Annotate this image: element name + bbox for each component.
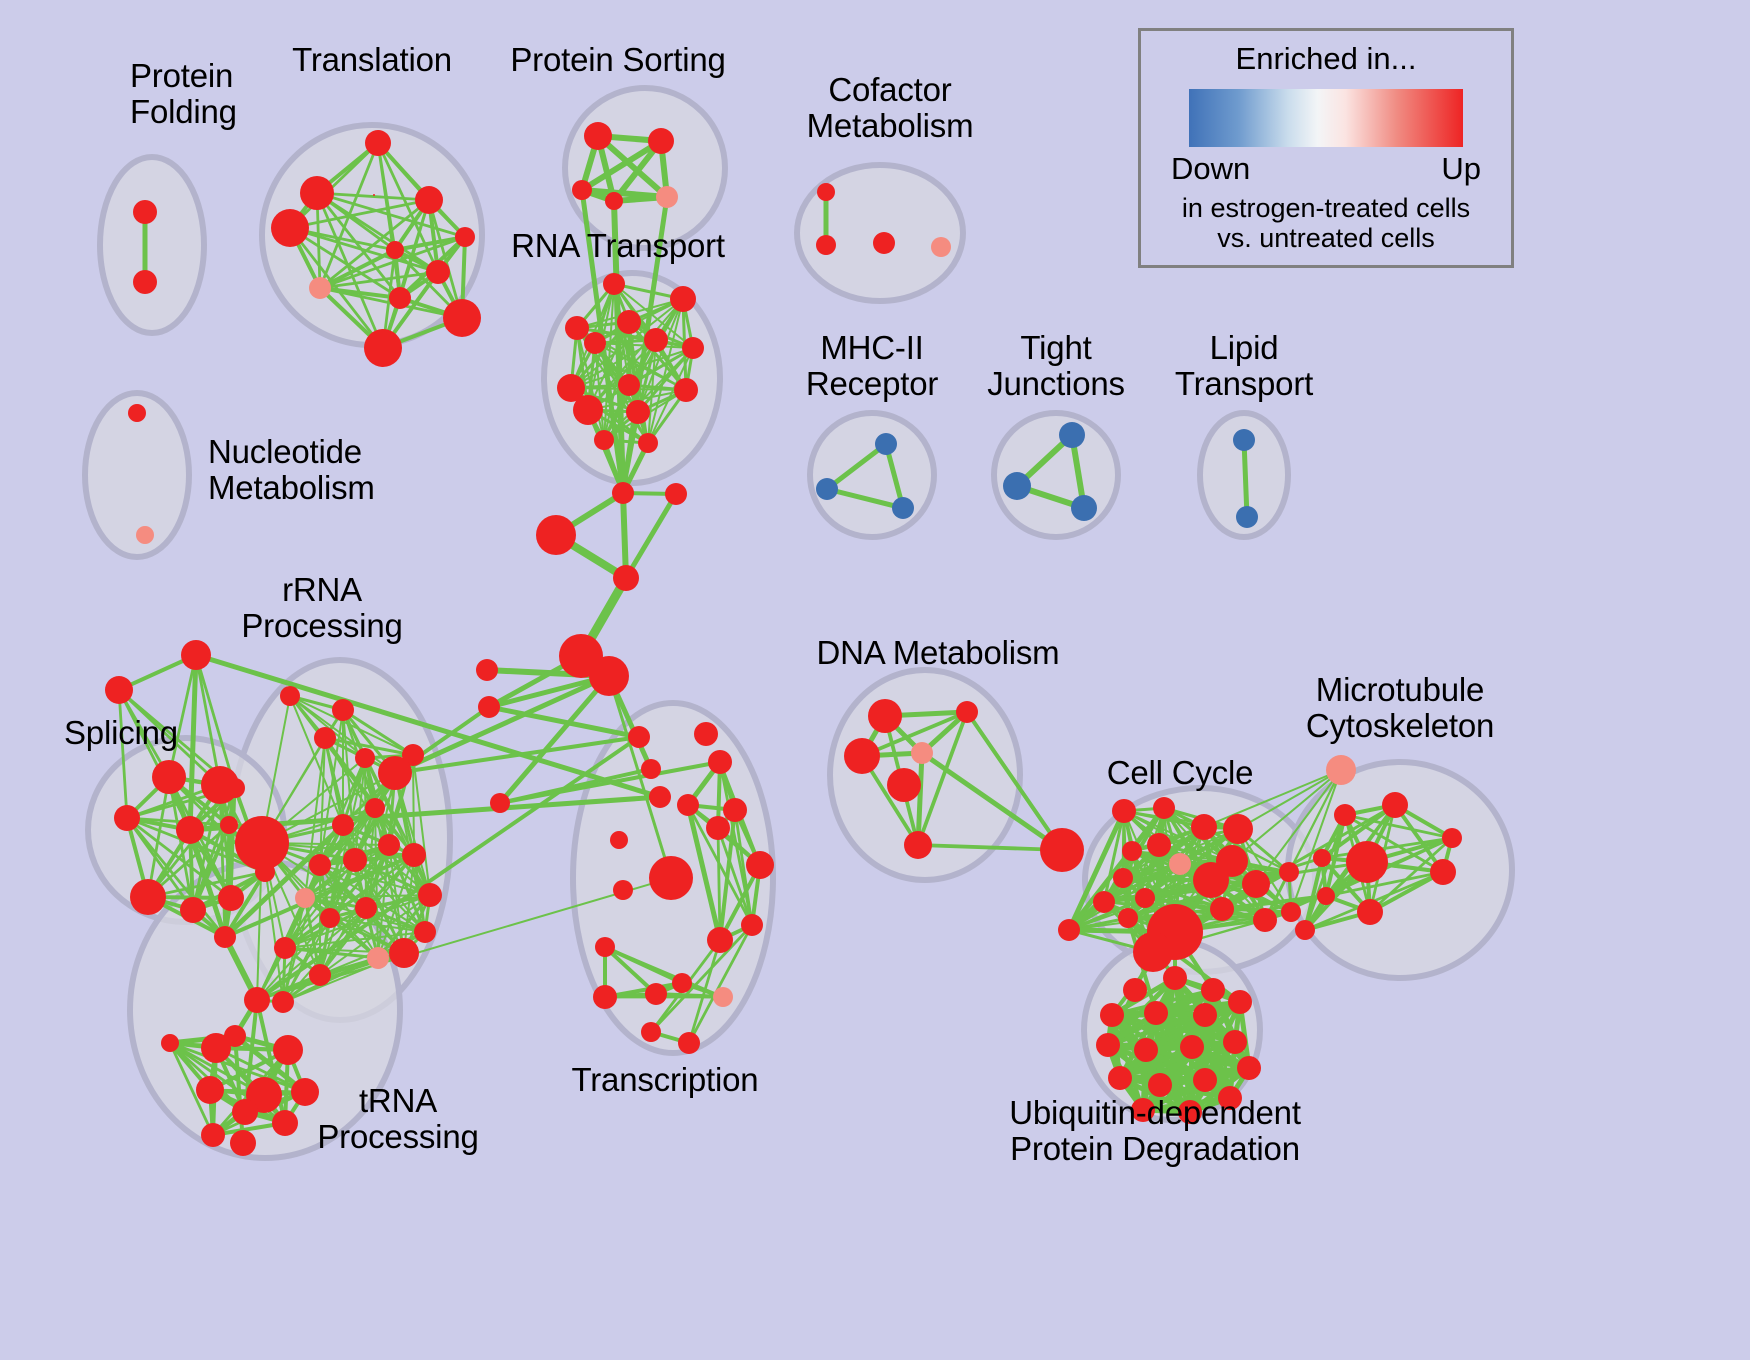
network-node[interactable] (1357, 899, 1383, 925)
network-node[interactable] (1133, 932, 1173, 972)
cluster-hull[interactable] (810, 413, 934, 537)
cluster-label: Tight Junctions (987, 330, 1125, 401)
network-node[interactable] (364, 329, 402, 367)
network-node[interactable] (1237, 1056, 1261, 1080)
network-node[interactable] (152, 760, 186, 794)
network-node[interactable] (641, 759, 661, 779)
network-node[interactable] (1059, 422, 1085, 448)
cluster-label: Microtubule Cytoskeleton (1306, 672, 1494, 743)
network-node[interactable] (332, 814, 354, 836)
network-node[interactable] (1135, 888, 1155, 908)
network-node[interactable] (1193, 1068, 1217, 1092)
network-node[interactable] (589, 656, 629, 696)
network-edge (626, 494, 676, 578)
network-node[interactable] (490, 793, 510, 813)
legend-endpoint-labels: Down Up (1141, 147, 1511, 187)
network-node[interactable] (816, 478, 838, 500)
network-node[interactable] (378, 756, 412, 790)
legend-panel: Enriched in... Down Up in estrogen-treat… (1138, 28, 1514, 268)
network-node[interactable] (1313, 849, 1331, 867)
network-node[interactable] (1223, 1030, 1247, 1054)
network-node[interactable] (875, 433, 897, 455)
network-node[interactable] (817, 183, 835, 201)
network-node[interactable] (244, 987, 270, 1013)
network-node[interactable] (355, 897, 377, 919)
network-node[interactable] (613, 880, 633, 900)
cluster-label: Cell Cycle (1107, 755, 1254, 791)
network-node[interactable] (868, 699, 902, 733)
legend-color-gradient-bar (1189, 89, 1463, 147)
network-node[interactable] (816, 235, 836, 255)
network-node[interactable] (723, 798, 747, 822)
network-node[interactable] (300, 176, 334, 210)
network-node[interactable] (105, 676, 133, 704)
cluster-label: Protein Folding (130, 58, 237, 129)
network-node[interactable] (133, 200, 157, 224)
network-node[interactable] (741, 914, 763, 936)
network-node[interactable] (214, 926, 236, 948)
network-node[interactable] (274, 937, 296, 959)
network-node[interactable] (931, 237, 951, 257)
network-node[interactable] (161, 1034, 179, 1052)
network-node[interactable] (1193, 862, 1229, 898)
network-node[interactable] (365, 130, 391, 156)
network-node[interactable] (645, 983, 667, 1005)
network-node[interactable] (1093, 891, 1115, 913)
network-node[interactable] (844, 738, 880, 774)
network-node[interactable] (678, 1032, 700, 1054)
network-node[interactable] (610, 831, 628, 849)
network-node[interactable] (672, 973, 692, 993)
network-figure: Protein FoldingTranslationProtein Sortin… (0, 0, 1750, 1360)
network-node[interactable] (201, 766, 239, 804)
network-node[interactable] (418, 883, 442, 907)
network-node[interactable] (1430, 859, 1456, 885)
network-node[interactable] (367, 947, 389, 969)
network-node[interactable] (373, 194, 375, 196)
network-node[interactable] (443, 299, 481, 337)
network-node[interactable] (670, 286, 696, 312)
network-node[interactable] (911, 742, 933, 764)
network-node[interactable] (593, 985, 617, 1009)
network-node[interactable] (220, 816, 238, 834)
network-node[interactable] (114, 805, 140, 831)
legend-low-label: Down (1171, 151, 1250, 187)
cluster-label: tRNA Processing (317, 1083, 478, 1154)
network-node[interactable] (180, 897, 206, 923)
network-node[interactable] (343, 848, 367, 872)
legend-title: Enriched in... (1141, 41, 1511, 77)
network-node[interactable] (1112, 799, 1136, 823)
network-node[interactable] (638, 433, 658, 453)
network-node[interactable] (682, 337, 704, 359)
network-node[interactable] (1003, 472, 1031, 500)
network-node[interactable] (1279, 862, 1299, 882)
network-node[interactable] (1191, 814, 1217, 840)
network-node[interactable] (176, 816, 204, 844)
network-node[interactable] (389, 287, 411, 309)
network-node[interactable] (677, 794, 699, 816)
network-node[interactable] (291, 1078, 319, 1106)
network-node[interactable] (1169, 853, 1191, 875)
network-node[interactable] (746, 851, 774, 879)
network-node[interactable] (1144, 1001, 1168, 1025)
network-node[interactable] (892, 497, 914, 519)
network-node[interactable] (612, 482, 634, 504)
network-node[interactable] (694, 722, 718, 746)
network-node[interactable] (536, 515, 576, 555)
network-node[interactable] (232, 1099, 258, 1125)
network-node[interactable] (201, 1123, 225, 1147)
network-node[interactable] (1153, 797, 1175, 819)
network-node[interactable] (904, 831, 932, 859)
network-node[interactable] (332, 699, 354, 721)
legend-caption-line-2: vs. untreated cells (1141, 223, 1511, 253)
cluster-label: Translation (292, 42, 452, 78)
network-node[interactable] (665, 483, 687, 505)
network-node[interactable] (309, 854, 331, 876)
network-node[interactable] (1233, 429, 1255, 451)
legend-caption-line-1: in estrogen-treated cells (1141, 193, 1511, 223)
network-node[interactable] (235, 816, 289, 870)
network-node[interactable] (218, 885, 244, 911)
network-node[interactable] (1242, 870, 1270, 898)
legend-high-label: Up (1441, 151, 1481, 187)
network-node[interactable] (365, 798, 385, 818)
network-node[interactable] (1113, 868, 1133, 888)
network-node[interactable] (1134, 1038, 1158, 1062)
network-node[interactable] (713, 987, 733, 1007)
network-node[interactable] (455, 227, 475, 247)
network-node[interactable] (1223, 814, 1253, 844)
network-node[interactable] (273, 1035, 303, 1065)
network-node[interactable] (644, 328, 668, 352)
cluster-label: RNA Transport (511, 228, 725, 264)
network-node[interactable] (649, 856, 693, 900)
network-node[interactable] (415, 186, 443, 214)
network-node[interactable] (626, 400, 650, 424)
network-node[interactable] (1108, 1066, 1132, 1090)
network-node[interactable] (1228, 990, 1252, 1014)
network-node[interactable] (1163, 966, 1187, 990)
cluster-label: Ubiquitin-dependent Protein Degradation (1009, 1095, 1301, 1166)
network-node[interactable] (1040, 828, 1084, 872)
network-node[interactable] (706, 816, 730, 840)
network-node[interactable] (478, 696, 500, 718)
network-node[interactable] (641, 1022, 661, 1042)
cluster-label: DNA Metabolism (817, 635, 1060, 671)
network-node[interactable] (386, 241, 404, 259)
network-node[interactable] (426, 260, 450, 284)
network-node[interactable] (628, 726, 650, 748)
network-node[interactable] (378, 834, 400, 856)
network-node[interactable] (708, 750, 732, 774)
network-node[interactable] (1382, 792, 1408, 818)
network-node[interactable] (1100, 1003, 1124, 1027)
network-node[interactable] (873, 232, 895, 254)
network-node[interactable] (402, 843, 426, 867)
network-node[interactable] (1123, 978, 1147, 1002)
network-node[interactable] (617, 310, 641, 334)
cluster-label: Splicing (64, 715, 178, 751)
network-node[interactable] (1180, 1035, 1204, 1059)
cluster-label: Nucleotide Metabolism (208, 434, 375, 505)
cluster-label: rRNA Processing (241, 572, 402, 643)
network-node[interactable] (572, 180, 592, 200)
cluster-label: Lipid Transport (1175, 330, 1313, 401)
network-node[interactable] (309, 964, 331, 986)
network-node[interactable] (1253, 908, 1277, 932)
network-node[interactable] (1193, 1003, 1217, 1027)
network-node[interactable] (1236, 506, 1258, 528)
network-node[interactable] (707, 927, 733, 953)
network-node[interactable] (355, 748, 375, 768)
cluster-label: Protein Sorting (510, 42, 725, 78)
network-node[interactable] (181, 640, 211, 670)
network-node[interactable] (1201, 978, 1225, 1002)
network-node[interactable] (1334, 804, 1356, 826)
network-node[interactable] (649, 786, 671, 808)
network-node[interactable] (674, 378, 698, 402)
network-node[interactable] (595, 937, 615, 957)
network-node[interactable] (1326, 755, 1356, 785)
network-node[interactable] (295, 888, 315, 908)
cluster-hull[interactable] (100, 157, 204, 333)
network-node[interactable] (314, 727, 336, 749)
cluster-label: MHC-II Receptor (806, 330, 938, 401)
network-node[interactable] (196, 1076, 224, 1104)
cluster-label: Transcription (572, 1062, 759, 1098)
network-node[interactable] (272, 1110, 298, 1136)
network-node[interactable] (1346, 841, 1388, 883)
network-node[interactable] (476, 659, 498, 681)
network-node[interactable] (1071, 495, 1097, 521)
network-node[interactable] (648, 128, 674, 154)
network-node[interactable] (1147, 833, 1171, 857)
network-node[interactable] (565, 316, 589, 340)
network-node[interactable] (1317, 887, 1335, 905)
network-node[interactable] (573, 395, 603, 425)
network-node[interactable] (1442, 828, 1462, 848)
network-node[interactable] (1118, 908, 1138, 928)
network-node[interactable] (1295, 920, 1315, 940)
cluster-label: Cofactor Metabolism (807, 72, 974, 143)
network-node[interactable] (603, 273, 625, 295)
network-node[interactable] (128, 404, 146, 422)
network-node[interactable] (1281, 902, 1301, 922)
network-node[interactable] (271, 209, 309, 247)
network-node[interactable] (1210, 897, 1234, 921)
network-node[interactable] (389, 938, 419, 968)
network-node[interactable] (280, 686, 300, 706)
network-node[interactable] (414, 921, 436, 943)
network-node[interactable] (605, 192, 623, 210)
network-node[interactable] (594, 430, 614, 450)
network-node[interactable] (1058, 919, 1080, 941)
network-node[interactable] (584, 332, 606, 354)
network-node[interactable] (887, 768, 921, 802)
network-node[interactable] (230, 1130, 256, 1156)
network-node[interactable] (136, 526, 154, 544)
network-edge (1244, 440, 1247, 517)
network-node[interactable] (272, 991, 294, 1013)
network-node[interactable] (320, 908, 340, 928)
network-node[interactable] (201, 1033, 231, 1063)
network-node[interactable] (613, 565, 639, 591)
network-node[interactable] (956, 701, 978, 723)
network-node[interactable] (130, 879, 166, 915)
network-node[interactable] (1096, 1033, 1120, 1057)
network-node[interactable] (1122, 841, 1142, 861)
network-node[interactable] (584, 122, 612, 150)
network-node[interactable] (309, 277, 331, 299)
network-node[interactable] (656, 186, 678, 208)
network-node[interactable] (618, 374, 640, 396)
network-node[interactable] (133, 270, 157, 294)
